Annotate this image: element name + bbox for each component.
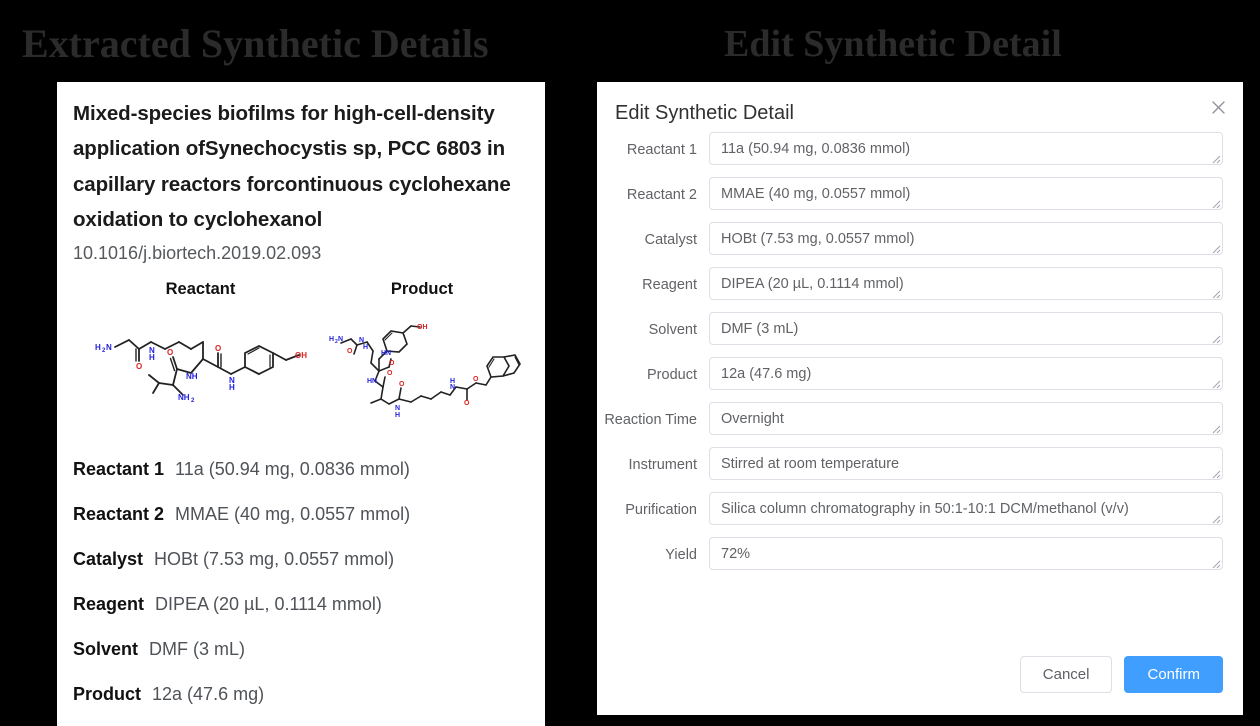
detail-row: Reactant 2 MMAE (40 mg, 0.0557 mmol) <box>73 504 529 525</box>
product-input[interactable] <box>709 357 1223 390</box>
svg-text:NH: NH <box>178 393 190 402</box>
detail-value: DIPEA (20 µL, 0.1114 mmol) <box>155 594 382 615</box>
product-column-header: Product <box>322 280 522 299</box>
confirm-button[interactable]: Confirm <box>1124 656 1223 693</box>
form-row-reaction-time: Reaction Time <box>597 402 1223 435</box>
detail-row: Product 12a (47.6 mg) <box>73 684 529 705</box>
detail-label: Reactant 1 <box>73 459 164 480</box>
detail-row: Solvent DMF (3 mL) <box>73 639 529 660</box>
form-row-reactant-1: Reactant 1 <box>597 132 1223 165</box>
detail-value: HOBt (7.53 mg, 0.0557 mmol) <box>154 549 394 570</box>
detail-label: Solvent <box>73 639 138 660</box>
svg-text:O: O <box>473 376 479 383</box>
detail-row: Reagent DIPEA (20 µL, 0.1114 mmol) <box>73 594 529 615</box>
field-label: Yield <box>597 537 709 564</box>
extracted-detail-list: Reactant 1 11a (50.94 mg, 0.0836 mmol) R… <box>73 459 529 705</box>
svg-text:H: H <box>95 343 101 352</box>
form-row-reagent: Reagent <box>597 267 1223 300</box>
form-row-solvent: Solvent <box>597 312 1223 345</box>
svg-text:H: H <box>229 383 235 392</box>
svg-text:N: N <box>395 405 400 412</box>
catalyst-input[interactable] <box>709 222 1223 255</box>
paper-doi: 10.1016/j.biortech.2019.02.093 <box>73 243 529 264</box>
field-label: Instrument <box>597 447 709 474</box>
extracted-details-card: Mixed-species biofilms for high-cell-den… <box>57 82 545 726</box>
svg-text:O: O <box>215 344 221 353</box>
dialog-title: Edit Synthetic Detail <box>615 102 794 124</box>
dialog-header: Edit Synthetic Detail <box>597 82 1243 126</box>
yield-input[interactable] <box>709 537 1223 570</box>
detail-label: Catalyst <box>73 549 143 570</box>
detail-value: 11a (50.94 mg, 0.0836 mmol) <box>175 459 410 480</box>
svg-text:N: N <box>338 336 343 343</box>
form-row-instrument: Instrument <box>597 447 1223 480</box>
field-label: Catalyst <box>597 222 709 249</box>
detail-label: Reagent <box>73 594 144 615</box>
close-icon[interactable] <box>1207 96 1229 118</box>
field-label: Product <box>597 357 709 384</box>
right-panel-heading: Edit Synthetic Detail <box>724 22 1062 66</box>
instrument-input[interactable] <box>709 447 1223 480</box>
field-label: Reactant 2 <box>597 177 709 204</box>
svg-text:O: O <box>347 348 353 355</box>
detail-row: Catalyst HOBt (7.53 mg, 0.0557 mmol) <box>73 549 529 570</box>
svg-text:NH: NH <box>186 372 198 381</box>
svg-text:HN: HN <box>381 350 391 357</box>
svg-text:H: H <box>395 412 400 419</box>
field-label: Purification <box>597 492 709 519</box>
svg-text:O: O <box>389 360 395 367</box>
detail-label: Reactant 2 <box>73 504 164 525</box>
edit-synthetic-detail-dialog: Edit Synthetic Detail Reactant 1 Reactan… <box>597 82 1243 715</box>
product-structure-icon: H 2 N O N H HN O O HN O N H N H O O OH <box>323 311 523 441</box>
form-row-catalyst: Catalyst <box>597 222 1223 255</box>
svg-text:N: N <box>359 337 364 344</box>
field-label: Reaction Time <box>597 402 709 429</box>
svg-text:H: H <box>363 344 368 351</box>
solvent-input[interactable] <box>709 312 1223 345</box>
detail-label: Product <box>73 684 141 705</box>
svg-text:OH: OH <box>295 351 307 360</box>
svg-text:O: O <box>387 370 393 377</box>
dialog-footer: Cancel Confirm <box>1020 656 1223 693</box>
detail-row: Reactant 1 11a (50.94 mg, 0.0836 mmol) <box>73 459 529 480</box>
svg-text:O: O <box>399 381 405 388</box>
chemical-structures: H 2 N O N H O N H OH O NH NH 2 <box>73 311 529 441</box>
svg-text:H: H <box>149 353 155 362</box>
svg-text:N: N <box>450 384 455 391</box>
reaction-time-input[interactable] <box>709 402 1223 435</box>
reactant-column-header: Reactant <box>79 280 322 299</box>
svg-text:O: O <box>167 348 173 357</box>
synthetic-detail-form: Reactant 1 Reactant 2 Catalyst <box>597 126 1243 570</box>
field-label: Solvent <box>597 312 709 339</box>
svg-text:N: N <box>106 343 112 352</box>
reactant-2-input[interactable] <box>709 177 1223 210</box>
svg-text:HN: HN <box>367 378 377 385</box>
svg-text:2: 2 <box>191 398 195 404</box>
paper-title: Mixed-species biofilms for high-cell-den… <box>73 96 529 237</box>
svg-text:O: O <box>136 362 142 371</box>
reagent-input[interactable] <box>709 267 1223 300</box>
field-label: Reactant 1 <box>597 132 709 159</box>
structure-column-headers: Reactant Product <box>73 280 529 299</box>
svg-text:H: H <box>329 336 334 343</box>
field-label: Reagent <box>597 267 709 294</box>
detail-value: 12a (47.6 mg) <box>152 684 264 705</box>
form-row-purification: Purification <box>597 492 1223 525</box>
detail-value: MMAE (40 mg, 0.0557 mmol) <box>175 504 410 525</box>
svg-text:O: O <box>464 400 470 407</box>
svg-text:H: H <box>450 378 455 385</box>
form-row-product: Product <box>597 357 1223 390</box>
form-row-yield: Yield <box>597 537 1223 570</box>
left-panel-heading: Extracted Synthetic Details <box>22 20 489 67</box>
purification-input[interactable] <box>709 492 1223 525</box>
detail-value: DMF (3 mL) <box>149 639 245 660</box>
cancel-button[interactable]: Cancel <box>1020 656 1113 693</box>
form-row-reactant-2: Reactant 2 <box>597 177 1223 210</box>
reactant-1-input[interactable] <box>709 132 1223 165</box>
svg-text:OH: OH <box>417 324 428 331</box>
